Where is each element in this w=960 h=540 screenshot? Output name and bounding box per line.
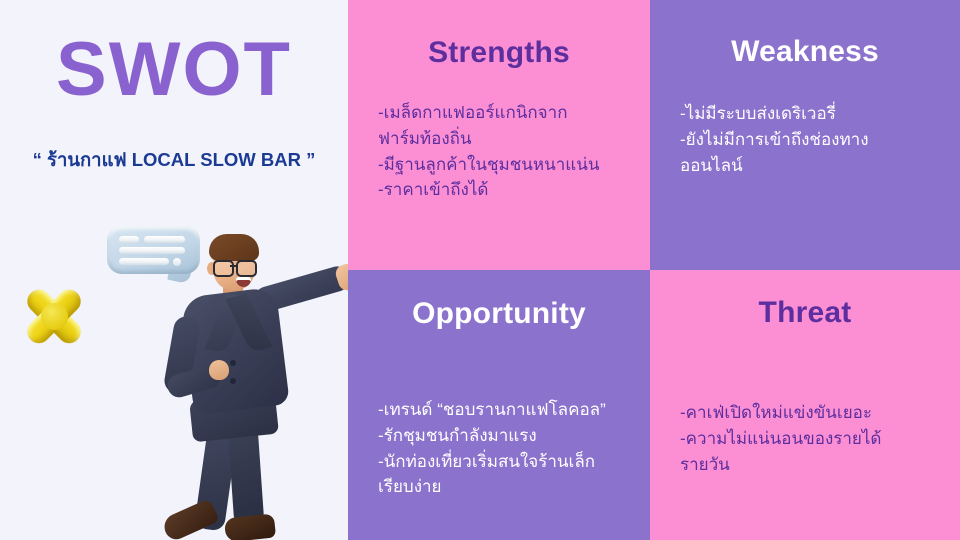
character-right-shoe: [224, 513, 276, 540]
body-line: -ความไม่แน่นอนของรายได้: [680, 426, 930, 452]
cross-center: [41, 303, 68, 330]
quadrant-title-strengths: Strengths: [378, 0, 620, 70]
body-line: -รักชุมชนกำลังมาแรง: [378, 423, 620, 449]
quadrant-body-opportunity: -เทรนด์ “ชอบรานกาแฟโลคอล” -รักชุมชนกำลัง…: [378, 397, 620, 500]
page-subtitle: “ ร้านกาแฟ LOCAL SLOW BAR ”: [0, 146, 348, 175]
quadrant-title-opportunity: Opportunity: [378, 270, 620, 331]
quadrant-strengths: Strengths -เมล็ดกาแฟออร์แกนิกจาก ฟาร์มท้…: [348, 0, 650, 270]
body-line: -ราคาเข้าถึงได้: [378, 177, 620, 203]
cross-icon: [18, 282, 90, 350]
eyeglasses-icon: [213, 260, 234, 277]
body-line: -ยังไม่มีการเข้าถึงช่องทาง: [680, 127, 930, 153]
body-line: -เทรนด์ “ชอบรานกาแฟโลคอล”: [378, 397, 620, 423]
eyeglasses-icon: [236, 260, 257, 277]
body-line: ออนไลน์: [680, 153, 930, 179]
quadrant-title-threat: Threat: [680, 270, 930, 330]
body-line: -มีฐานลูกค้าในชุมชนหนาแน่น: [378, 152, 620, 178]
businessman-illustration: [105, 220, 348, 540]
character-left-shoe: [160, 498, 219, 540]
quadrant-weakness: Weakness -ไม่มีระบบส่งเดริเวอรี่ -ยังไม่…: [650, 0, 960, 270]
quadrant-threat: Threat -คาเฟ่เปิดใหม่แข่งขันเยอะ -ความไม…: [650, 270, 960, 540]
body-line: -เมล็ดกาแฟออร์แกนิกจาก: [378, 100, 620, 126]
quadrant-body-weakness: -ไม่มีระบบส่งเดริเวอรี่ -ยังไม่มีการเข้า…: [680, 101, 930, 178]
character-hair: [209, 234, 259, 261]
body-line: เรียบง่าย: [378, 474, 620, 500]
eyeglasses-bridge: [230, 265, 237, 267]
page-title: SWOT: [0, 26, 348, 113]
quadrant-title-weakness: Weakness: [680, 0, 930, 69]
character-left-hand: [209, 360, 229, 380]
body-line: -ไม่มีระบบส่งเดริเวอรี่: [680, 101, 930, 127]
body-line: -คาเฟ่เปิดใหม่แข่งขันเยอะ: [680, 400, 930, 426]
character-jacket-button: [230, 378, 236, 384]
quadrant-body-threat: -คาเฟ่เปิดใหม่แข่งขันเยอะ -ความไม่แน่นอน…: [680, 400, 930, 477]
illustration-group: [0, 200, 348, 540]
quadrant-opportunity: Opportunity -เทรนด์ “ชอบรานกาแฟโลคอล” -ร…: [348, 270, 650, 540]
quadrant-body-strengths: -เมล็ดกาแฟออร์แกนิกจาก ฟาร์มท้องถิ่น -มี…: [378, 100, 620, 203]
title-panel: SWOT “ ร้านกาแฟ LOCAL SLOW BAR ”: [0, 0, 348, 540]
character-jacket-button: [230, 360, 236, 366]
body-line: -นักท่องเที่ยวเริ่มสนใจร้านเล็ก: [378, 449, 620, 475]
body-line: รายวัน: [680, 452, 930, 478]
character-right-leg: [228, 425, 265, 527]
character-mouth: [236, 277, 251, 287]
body-line: ฟาร์มท้องถิ่น: [378, 126, 620, 152]
swot-slide: SWOT “ ร้านกาแฟ LOCAL SLOW BAR ”: [0, 0, 960, 540]
